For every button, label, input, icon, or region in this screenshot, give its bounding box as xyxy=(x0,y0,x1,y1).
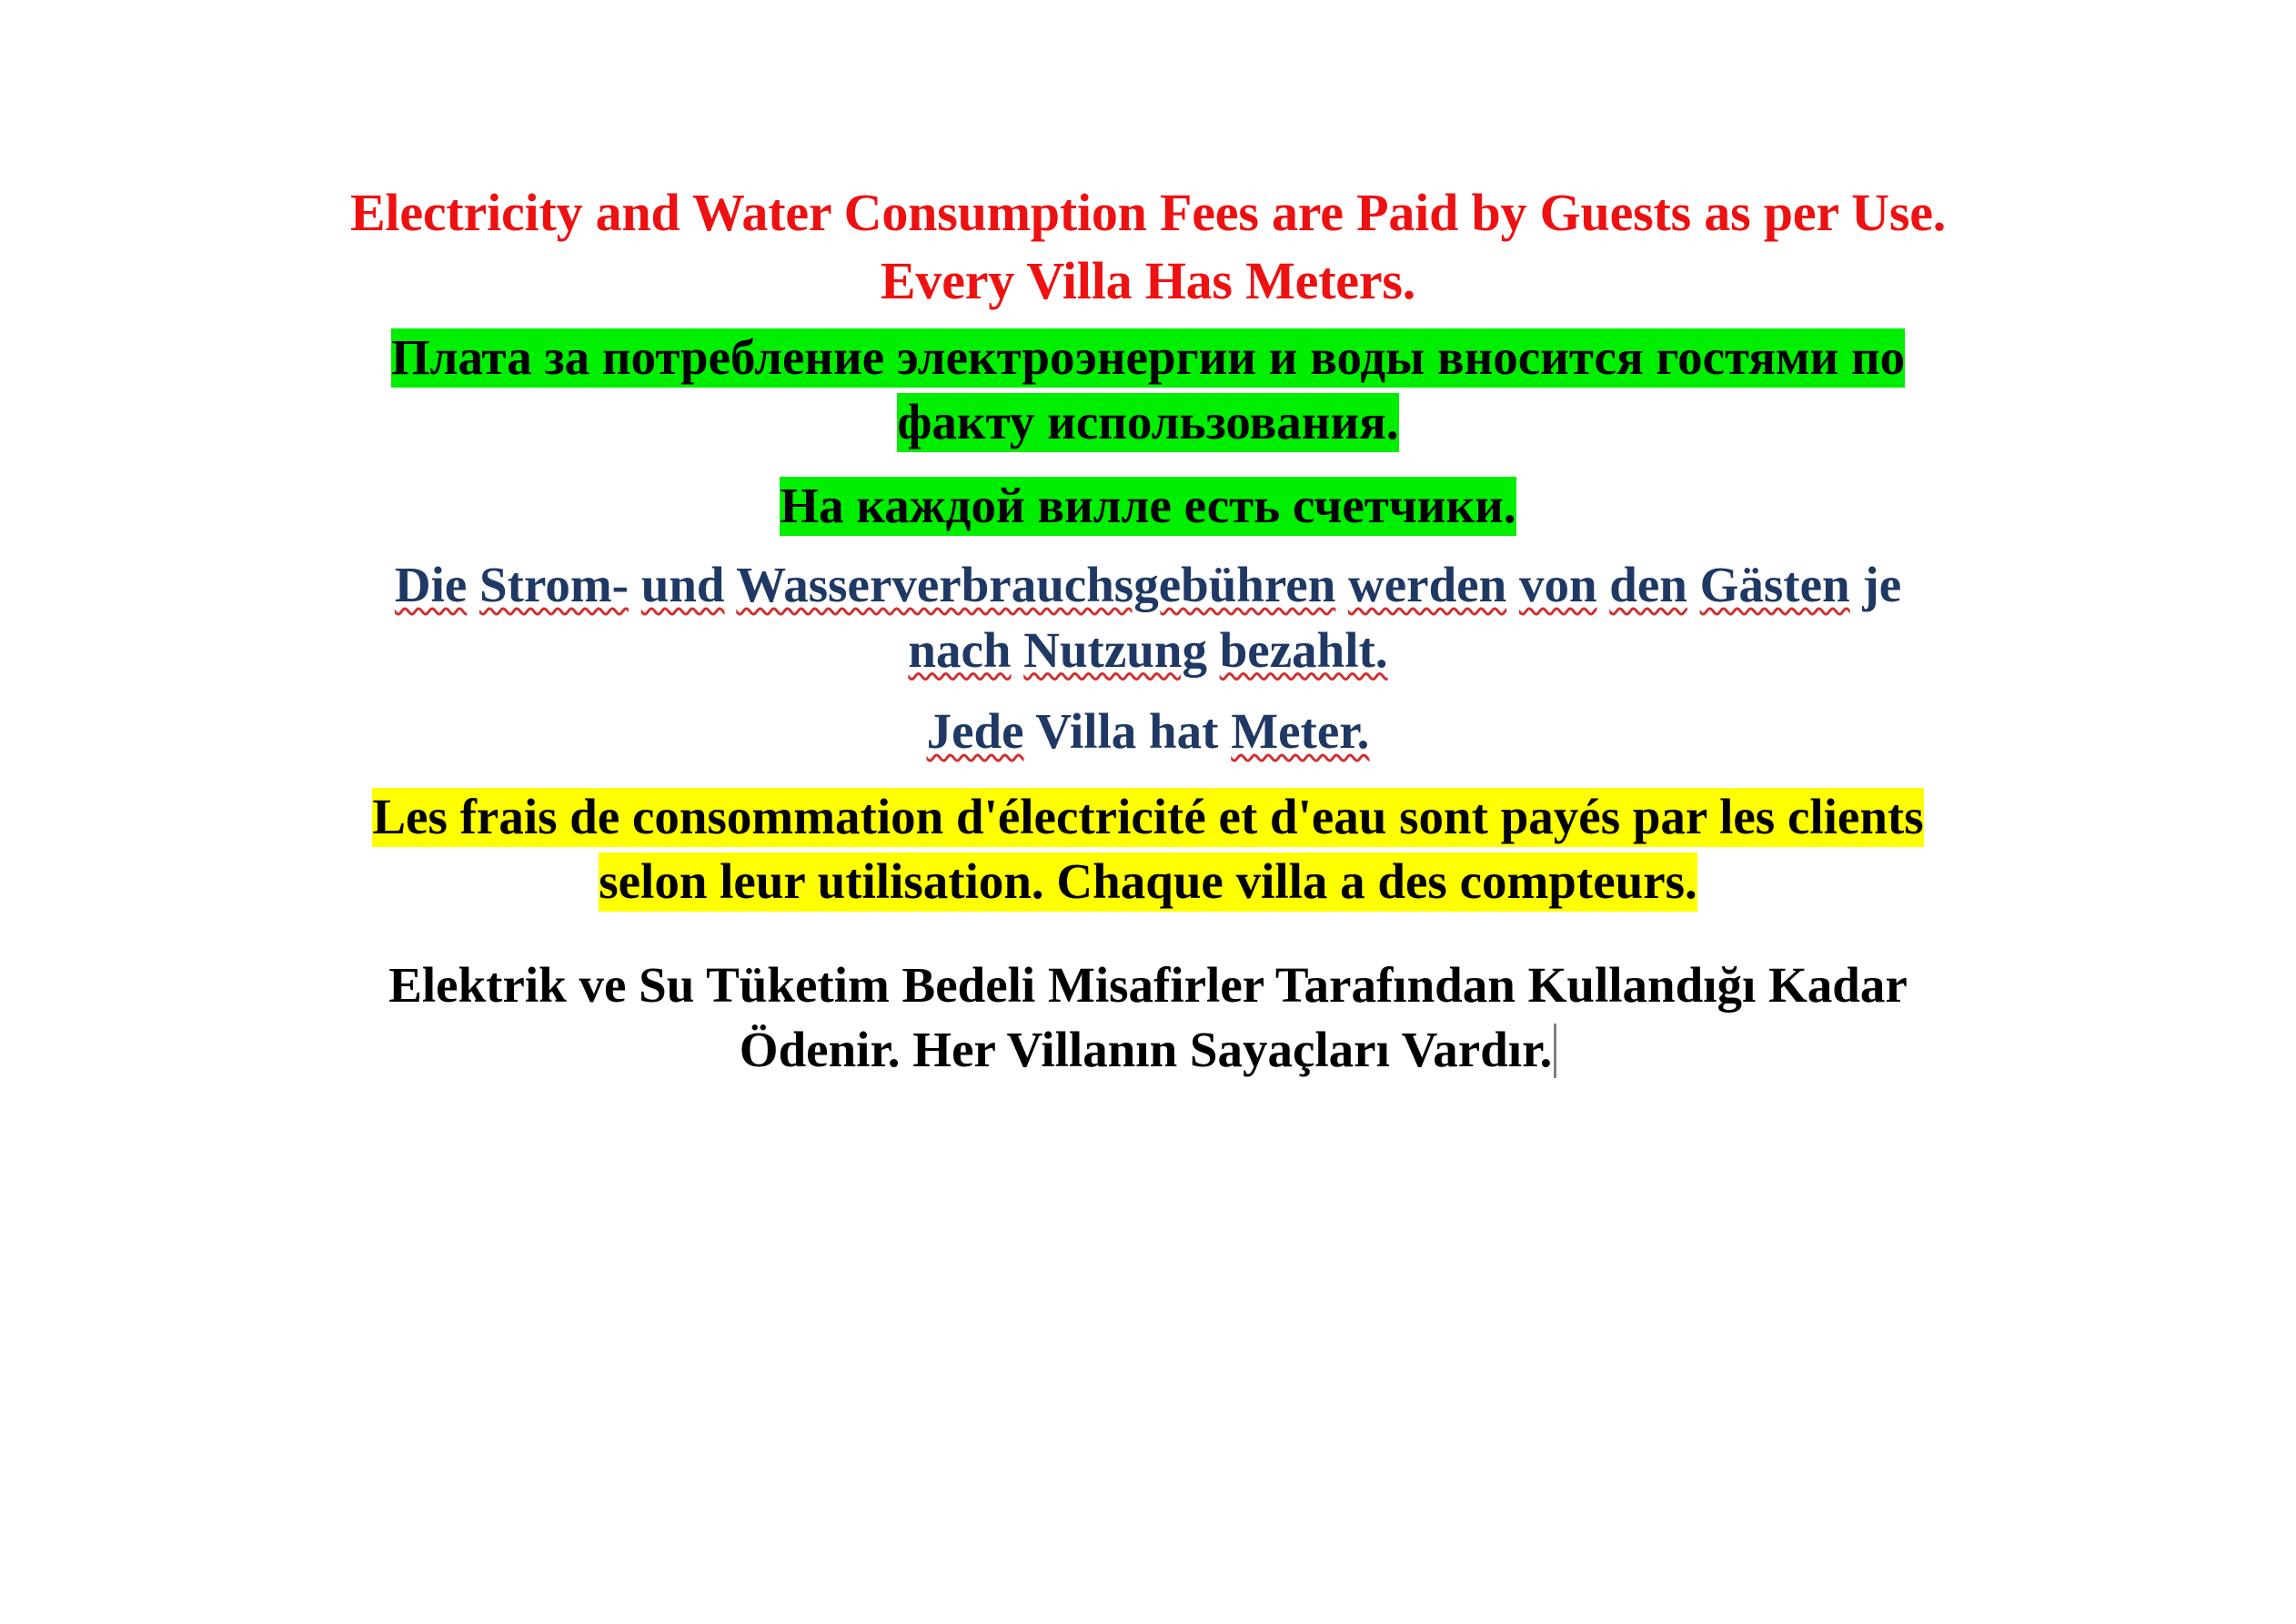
english-line-2: Every Villa Has Meters. xyxy=(881,251,1415,310)
paragraph-german-1[interactable]: Die Strom- und Wasserverbrauchsgebühren … xyxy=(211,552,2085,682)
document-page: Electricity and Water Consumption Fees a… xyxy=(0,0,2296,1624)
german-word-und: und xyxy=(641,557,725,612)
paragraph-russian-1[interactable]: Плата за потребление электроэнергии и во… xyxy=(211,325,2085,455)
german-word-von: von xyxy=(1519,557,1597,612)
paragraph-turkish[interactable]: Elektrik ve Su Tüketim Bedeli Misafirler… xyxy=(211,953,2085,1083)
turkish-line-2: Ödenir. Her Villanın Sayaçları Vardır. xyxy=(740,1022,1552,1077)
german-word-bezahlt: bezahlt. xyxy=(1220,622,1388,678)
german-word-nutzung: Nutzung xyxy=(1023,622,1207,678)
document-body: Electricity and Water Consumption Fees a… xyxy=(211,178,2085,1083)
german-words-villa-hat: Villa hat xyxy=(1035,703,1218,759)
russian-line-2: факту использования. xyxy=(897,393,1398,452)
german-word-gaesten: Gästen xyxy=(1700,557,1850,612)
german-word-wasserverbrauchsgebuehren: Wasserverbrauchsgebühren xyxy=(736,557,1335,612)
french-line-2: selon leur utilisation. Chaque villa a d… xyxy=(599,852,1697,912)
german-word-den: den xyxy=(1609,557,1687,612)
turkish-line-1: Elektrik ve Su Tüketim Bedeli Misafirler… xyxy=(388,957,1908,1013)
paragraph-russian-2[interactable]: На каждой вилле есть счетчики. xyxy=(211,473,2085,539)
german-word-werden: werden xyxy=(1348,557,1506,612)
german-word-meter: Meter. xyxy=(1231,703,1369,759)
german-word-die: Die xyxy=(395,557,467,612)
empty-paragraph[interactable] xyxy=(211,914,2085,953)
german-word-nach: nach xyxy=(908,622,1011,678)
russian-line-1: Плата за потребление электроэнергии и во… xyxy=(391,328,1905,388)
paragraph-german-2[interactable]: Jede Villa hat Meter. xyxy=(211,699,2085,764)
paragraph-english[interactable]: Electricity and Water Consumption Fees a… xyxy=(211,178,2085,316)
german-word-strom: Strom- xyxy=(479,557,629,612)
english-line-1: Electricity and Water Consumption Fees a… xyxy=(350,183,1946,242)
french-line-1: Les frais de consommation d'électricité … xyxy=(372,788,1923,847)
paragraph-french[interactable]: Les frais de consommation d'électricité … xyxy=(211,784,2085,914)
german-word-je: je xyxy=(1862,557,1901,612)
text-cursor-caret xyxy=(1554,1024,1556,1078)
russian-line-3: На каждой вилле есть счетчики. xyxy=(780,477,1516,536)
german-word-jede: Jede xyxy=(927,703,1024,759)
